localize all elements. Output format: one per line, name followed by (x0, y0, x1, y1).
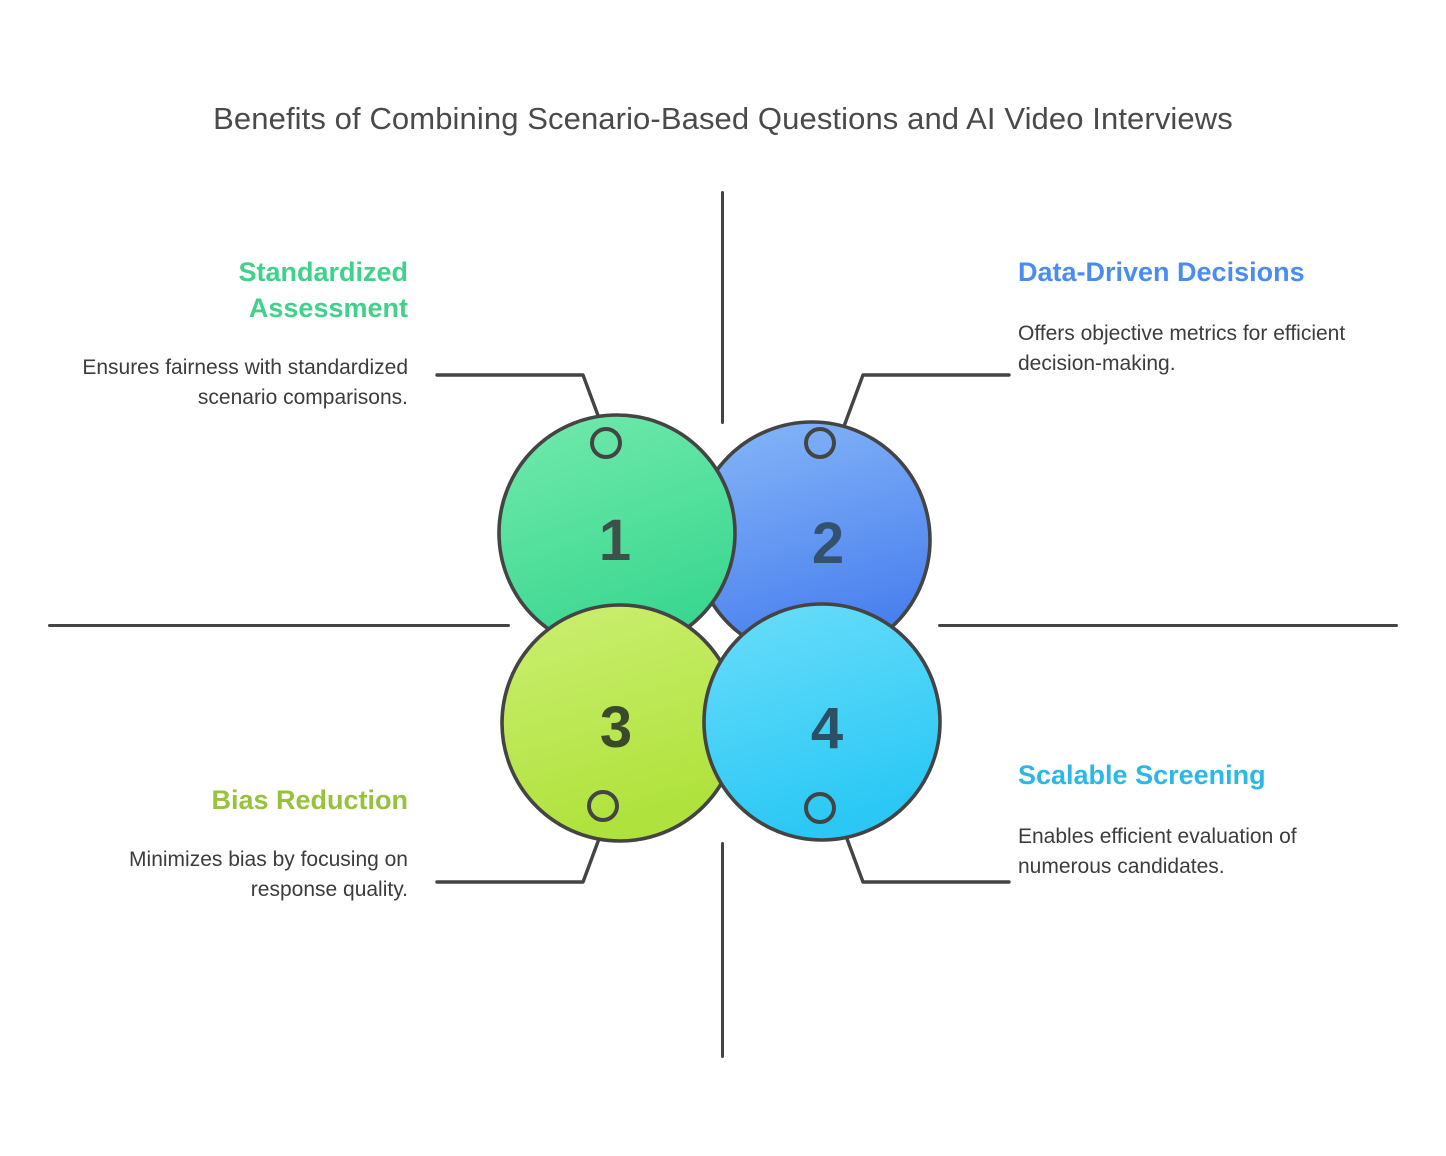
quadrant-scalable-screening: Scalable Screening Enables efficient eva… (1018, 758, 1348, 882)
quadrant-2-heading: Data-Driven Decisions (1018, 255, 1348, 291)
circle-number-4: 4 (811, 696, 843, 761)
quadrant-3-heading: Bias Reduction (78, 783, 408, 819)
circle-number-2: 2 (812, 511, 844, 576)
quadrant-standardized-assessment: Standardized Assessment Ensures fairness… (78, 255, 408, 412)
diagram-canvas: Benefits of Combining Scenario-Based Que… (0, 0, 1446, 1156)
quadrant-4-heading: Scalable Screening (1018, 758, 1348, 794)
quadrant-4-body: Enables efficient evaluation of numerous… (1018, 822, 1348, 882)
quadrant-3-body: Minimizes bias by focusing on response q… (78, 845, 408, 905)
quadrant-1-heading: Standardized Assessment (78, 255, 408, 327)
quadrant-1-body: Ensures fairness with standardized scena… (78, 353, 408, 413)
quadrant-data-driven-decisions: Data-Driven Decisions Offers objective m… (1018, 255, 1348, 379)
connector-line-2 (840, 375, 1009, 437)
quadrant-2-body: Offers objective metrics for efficient d… (1018, 319, 1348, 379)
venn-circles-group: 1 2 3 4 (0, 0, 1446, 1156)
circle-number-1: 1 (599, 508, 631, 573)
circle-number-3: 3 (600, 695, 632, 760)
quadrant-bias-reduction: Bias Reduction Minimizes bias by focusin… (78, 783, 408, 905)
